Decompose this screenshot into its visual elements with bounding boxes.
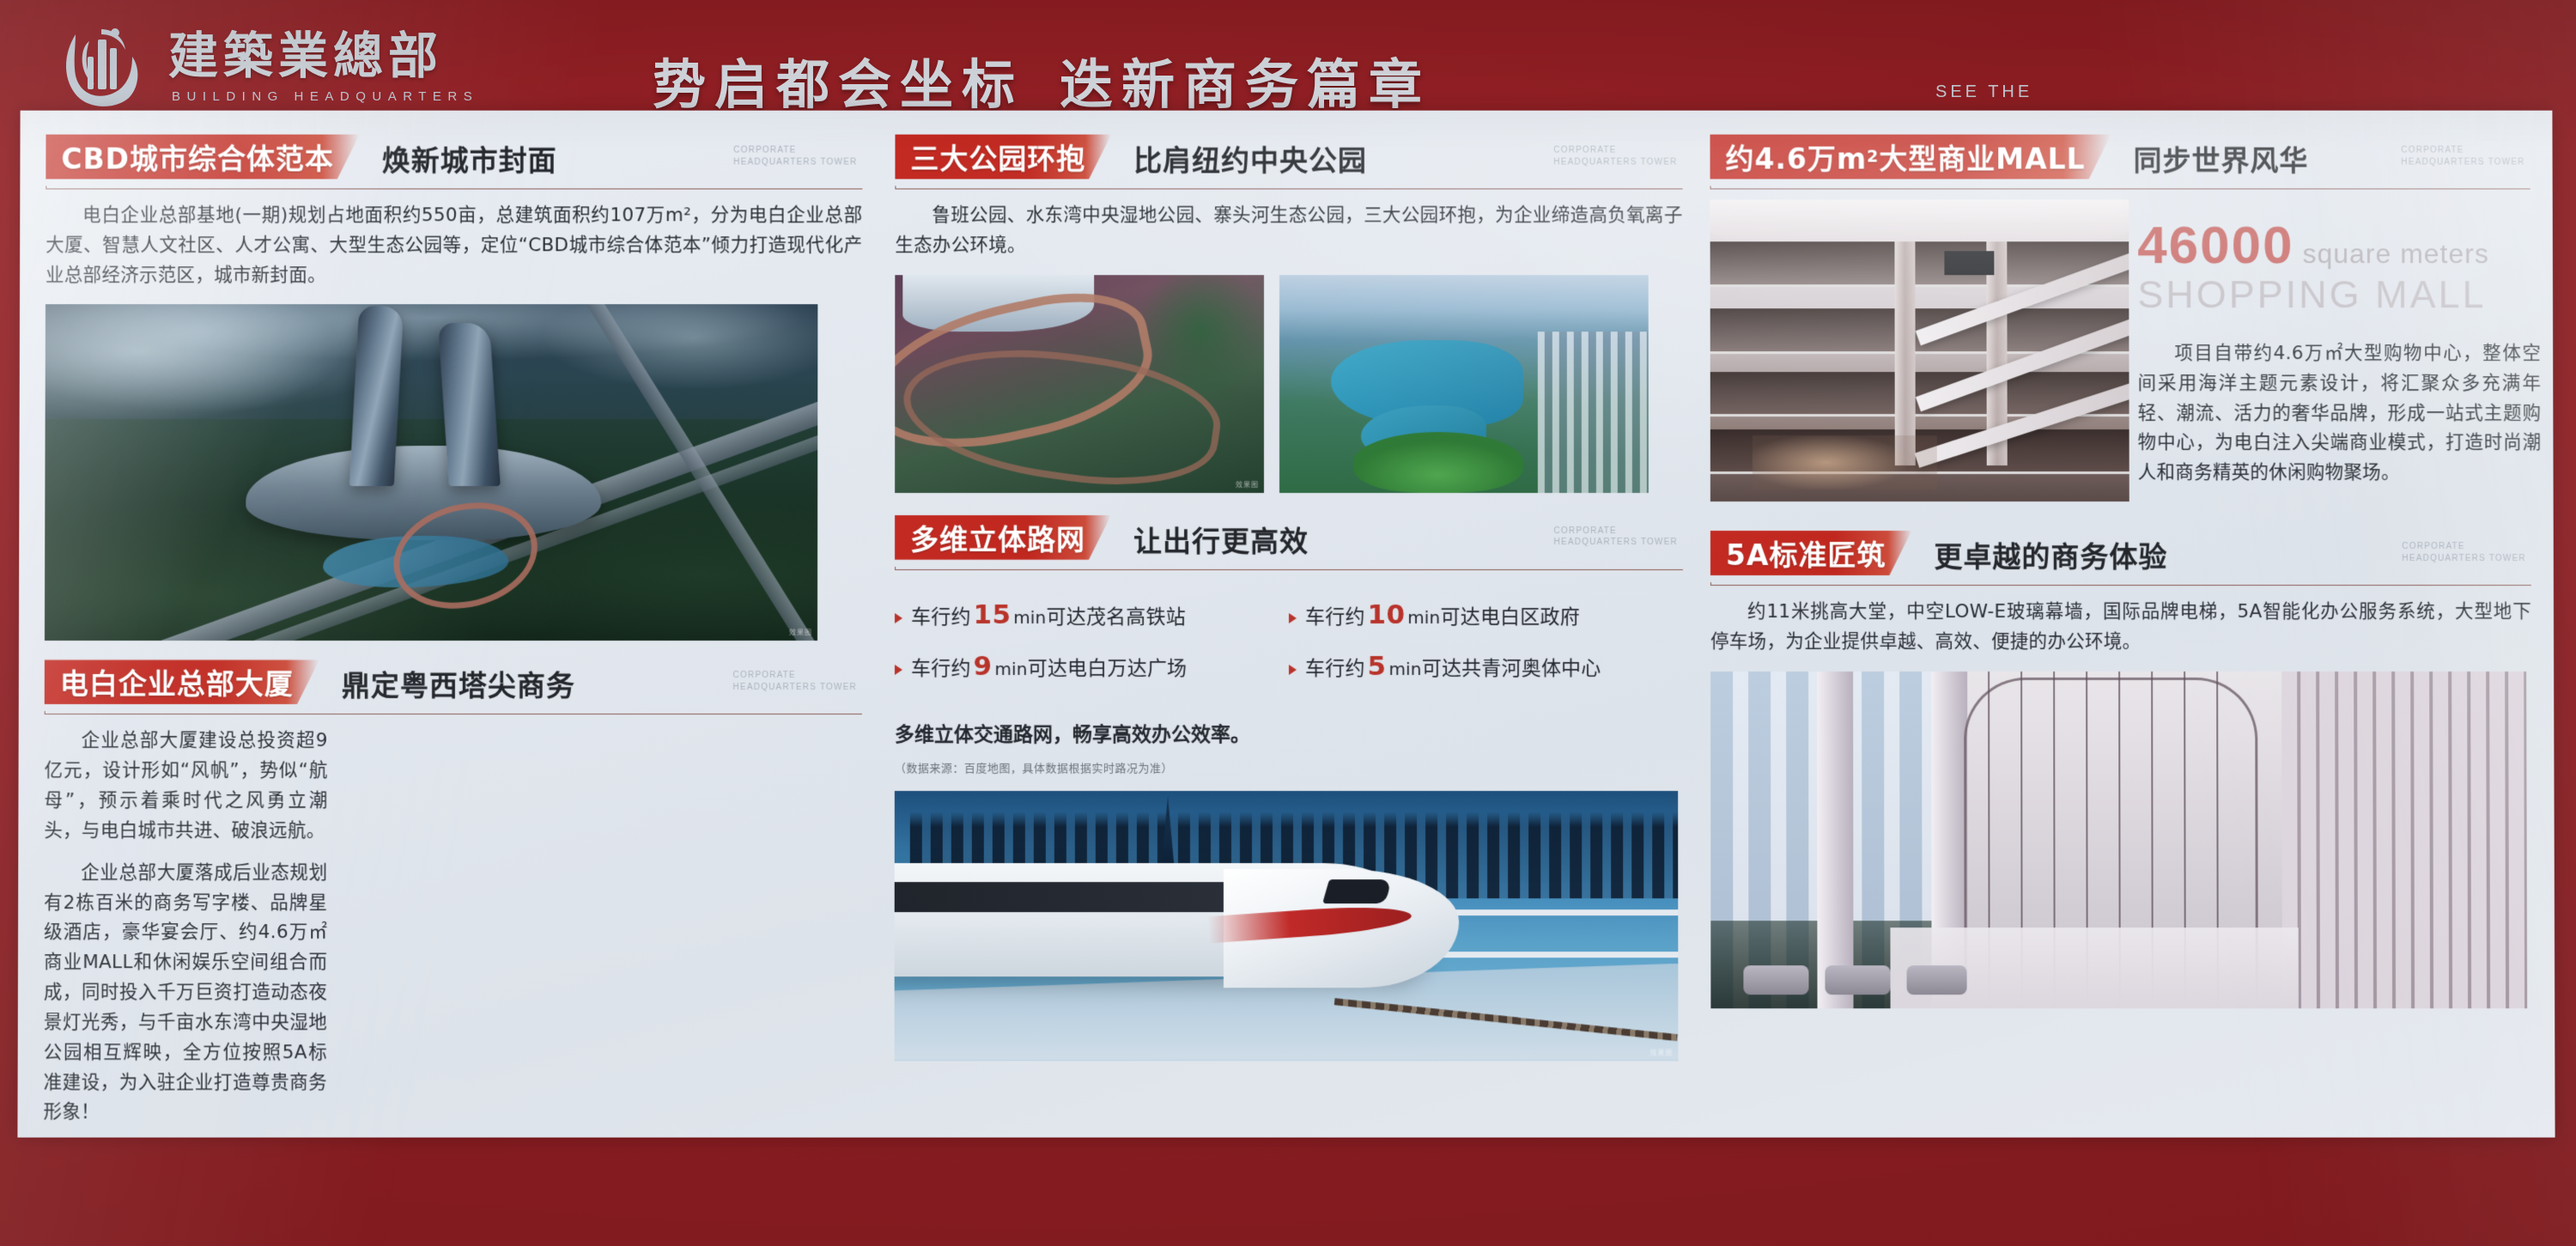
photo-credit: 效果图 <box>1649 1048 1673 1057</box>
section-fivea: 5A标准匠筑 更卓越的商务体验 CORPORATE HEADQUARTERS T… <box>1710 531 2532 1008</box>
bullet-arrow-icon <box>1289 613 1297 623</box>
section-parks-subtitle: 比肩纽约中央公园 <box>1133 138 1367 179</box>
section-tower-body-p2: 企业总部大厦落成后业态规划有2栋百米的商务写字楼、品牌星级酒店，豪华宴会厅、约4… <box>43 859 327 1128</box>
bullet-arrow-icon <box>1289 665 1297 675</box>
section-mall-subtitle: 同步世界风华 <box>2134 138 2309 179</box>
wetland-park-photo <box>1279 275 1649 493</box>
section-tower-subtitle: 鼎定粤西塔尖商务 <box>342 663 575 704</box>
sofa-shape <box>1743 965 1808 994</box>
tower-shape <box>437 323 500 486</box>
section-divider <box>1710 185 2530 189</box>
section-parks-tag: 三大公园环抱 <box>895 135 1111 179</box>
brand-signage <box>1945 251 1995 275</box>
mall-atrium-photo <box>1710 199 2129 501</box>
section-fivea-body: 约11米挑高大堂，中空LOW-E玻璃幕墙，国际品牌电梯，5A智能化办公服务系统，… <box>1710 598 2531 658</box>
section-fivea-subtitle: 更卓越的商务体验 <box>1934 534 2167 575</box>
section-mall-tag: 约4.6万m2大型商业MALL <box>1710 135 2111 179</box>
section-roads-subtitle: 让出行更高效 <box>1133 519 1309 560</box>
corner-mark: CORPORATE HEADQUARTERS TOWER <box>733 145 857 168</box>
section-cbd: CBD城市综合体范本 焕新城市封面 CORPORATE HEADQUARTERS… <box>45 135 863 641</box>
section-cbd-body: 电白企业总部基地(一期)规划占地面积约550亩，总建筑面积约107万m²，分为电… <box>46 201 862 290</box>
right-wall-panels <box>2281 672 2527 1008</box>
aerial-rendering-photo: 效果图 <box>45 305 817 641</box>
corner-mark: CORPORATE HEADQUARTERS TOWER <box>1554 526 1678 549</box>
section-mall-body: 项目自带约4.6万㎡大型购物中心，整体空间采用海洋主题元素设计，将汇聚众多充满年… <box>2137 339 2541 489</box>
column-middle: 三大公园环抱 比肩纽约中央公园 CORPORATE HEADQUARTERS T… <box>883 123 1699 1122</box>
park-rendering-photo: 效果图 <box>895 275 1264 493</box>
transit-bullet: 车行约15min可达茂名高铁站 <box>895 599 1289 630</box>
section-divider <box>45 712 862 715</box>
sofa-shape <box>1907 965 1967 994</box>
column-left: CBD城市综合体范本 焕新城市封面 CORPORATE HEADQUARTERS… <box>31 123 883 1122</box>
lawn-shape <box>1353 432 1523 493</box>
photo-credit: 效果图 <box>1236 480 1259 489</box>
corner-mark: CORPORATE HEADQUARTERS TOWER <box>732 670 856 693</box>
high-speed-train-photo: 效果图 <box>895 791 1679 1061</box>
section-roads: 多维立体路网 让出行更高效 CORPORATE HEADQUARTERS TOW… <box>895 515 1684 1061</box>
transit-note: 多维立体交通路网，畅享高效办公效率。 <box>895 718 1683 747</box>
ceiling-shape <box>1710 199 2129 247</box>
content-board: CBD城市综合体范本 焕新城市封面 CORPORATE HEADQUARTERS… <box>17 111 2555 1138</box>
sofa-shape <box>1825 965 1890 994</box>
section-parks: 三大公园环抱 比肩纽约中央公园 CORPORATE HEADQUARTERS T… <box>895 135 1683 493</box>
city-skyline-shape <box>1538 331 1649 493</box>
brand-logo: 建築業總部 BUILDING HEADQUARTERS <box>50 19 478 115</box>
photo-credit: 效果图 <box>789 628 812 637</box>
transit-bullet: 车行约9min可达电白万达广场 <box>895 651 1289 682</box>
headline-slogan: 势启都会坐标迭新商务篇章 <box>653 41 1855 119</box>
transit-data-source: （数据来源：百度地图，具体数据根据实时路况为准） <box>895 759 1683 775</box>
column-shape <box>1894 242 1915 465</box>
flame-building-emblem-icon <box>50 19 151 115</box>
logo-chinese-name: 建築業總部 <box>168 30 478 82</box>
section-divider <box>46 185 862 189</box>
mall-area-number: 46000 <box>2137 215 2293 276</box>
corner-mark: CORPORATE HEADQUARTERS TOWER <box>2401 145 2524 168</box>
corner-mark: CORPORATE HEADQUARTERS TOWER <box>2402 541 2525 564</box>
section-roads-tag: 多维立体路网 <box>895 515 1111 560</box>
lobby-rendering-photo <box>1710 672 2527 1008</box>
see-the-label: SEE THE <box>1935 82 2245 102</box>
transit-bullet-list: 车行约15min可达茂名高铁站 车行约9min可达电白万达广场 车行约10min… <box>895 599 1683 702</box>
section-tower: 电白企业总部大厦 鼎定粤西塔尖商务 CORPORATE HEADQUARTERS… <box>43 659 861 1127</box>
bullet-arrow-icon <box>895 613 902 623</box>
section-tower-body-p1: 企业总部大厦建设总投资超9亿元，设计形如“风帆”，势似“航母”，预示着乘时代之风… <box>44 727 327 847</box>
corner-mark: CORPORATE HEADQUARTERS TOWER <box>1553 145 1677 168</box>
slogan-left: 势启都会坐标 <box>653 53 1024 116</box>
section-cbd-tag: CBD城市综合体范本 <box>46 135 360 179</box>
section-divider <box>1710 582 2531 586</box>
slogan-right: 迭新商务篇章 <box>1060 53 1431 116</box>
logo-english-name: BUILDING HEADQUARTERS <box>172 89 478 104</box>
section-fivea-tag: 5A标准匠筑 <box>1710 531 1912 575</box>
transit-bullet: 车行约5min可达共青河奥体中心 <box>1289 651 1683 682</box>
section-mall: 约4.6万m2大型商业MALL 同步世界风华 CORPORATE HEADQUA… <box>1710 135 2530 526</box>
atrium-floor <box>1753 435 1937 489</box>
mall-area-unit: square meters <box>2302 238 2488 269</box>
transit-bullet: 车行约10min可达电白区政府 <box>1289 599 1683 630</box>
shopping-mall-label: SHOPPING MALL <box>2137 272 2541 317</box>
section-divider <box>895 185 1682 189</box>
section-cbd-subtitle: 焕新城市封面 <box>382 138 557 179</box>
section-parks-body: 鲁班公园、水东湾中央湿地公园、寨头河生态公园，三大公园环抱，为企业缔造高负氧离子… <box>895 201 1682 261</box>
mall-hero-stat: 46000square meters SHOPPING MALL 项目自带约4.… <box>2137 215 2541 489</box>
section-divider <box>895 567 1683 570</box>
bullet-arrow-icon <box>895 665 902 675</box>
column-shape <box>1817 672 1853 1008</box>
train-cockpit-window <box>1322 879 1392 903</box>
billboard-background: 建築業總部 BUILDING HEADQUARTERS 势启都会坐标迭新商务篇章… <box>0 0 2576 1246</box>
column-right: 约4.6万m2大型商业MALL 同步世界风华 CORPORATE HEADQUA… <box>1698 123 2541 1122</box>
section-tower-tag: 电白企业总部大厦 <box>45 659 319 704</box>
